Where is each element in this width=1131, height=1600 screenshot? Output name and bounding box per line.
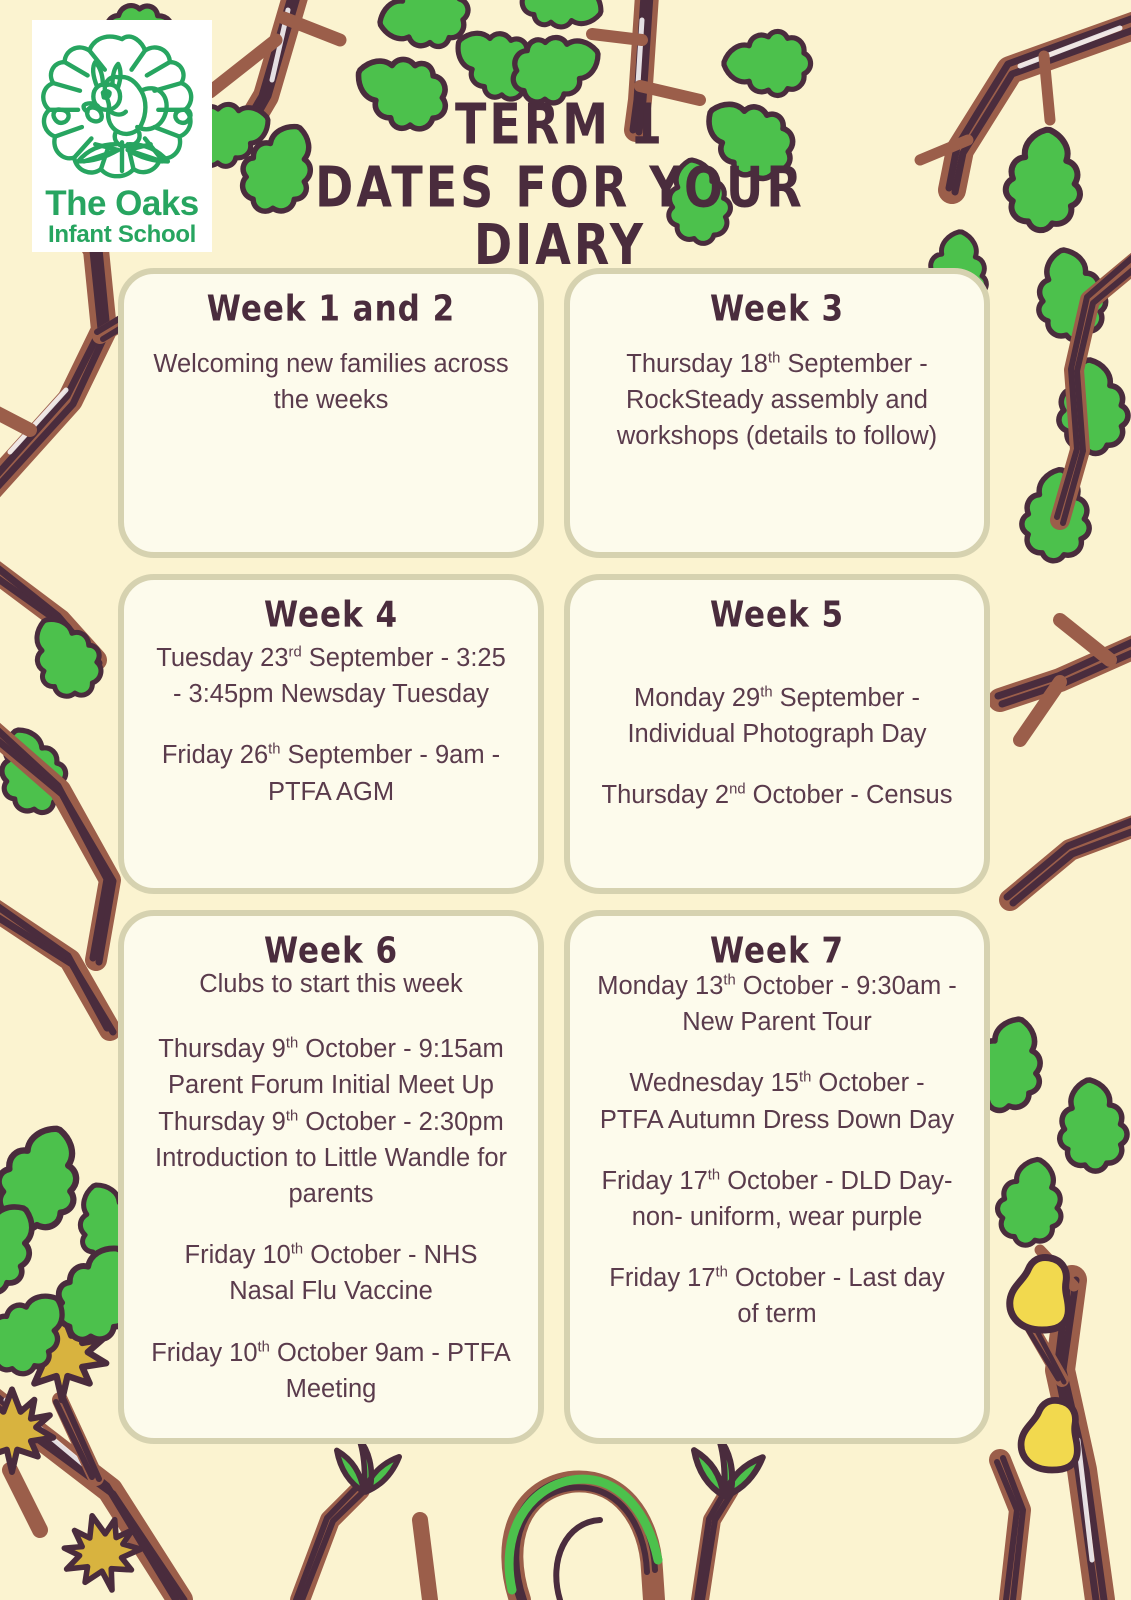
page-title: TERM 1 DATES FOR YOUR DIARY: [240, 96, 880, 253]
top-right-branch-icon: [920, 12, 1131, 192]
event-entry: Thursday 9th October - 9:15am Parent For…: [150, 1031, 512, 1103]
bottom-right-pear-branch-icon: [997, 1250, 1104, 1600]
pear-icon: [1010, 1258, 1069, 1331]
week-card-heading: Week 6: [150, 930, 512, 972]
event-entry: Tuesday 23rd September - 3:25 - 3:45pm N…: [150, 640, 512, 712]
week-card-subheading: Clubs to start this week: [150, 968, 512, 1001]
autumn-maple-leaf-icon: [0, 1389, 53, 1472]
event-entry: Wednesday 15th October - PTFA Autumn Dre…: [596, 1065, 958, 1137]
right-mid-branch-icon: [998, 620, 1131, 903]
week-card-body: Tuesday 23rd September - 3:25 - 3:45pm N…: [150, 640, 512, 810]
week-card-7: Week 7 Monday 13th October - 9:30am - Ne…: [564, 910, 990, 1444]
week-card-heading: Week 1 and 2: [150, 288, 512, 330]
week-card-1: Week 1 and 2 Welcoming new families acro…: [118, 268, 544, 558]
week-card-4: Week 4 Tuesday 23rd September - 3:25 - 3…: [118, 574, 544, 894]
week-card-body: Monday 29th September - Individual Photo…: [596, 680, 958, 814]
left-lower-branch-icon: [0, 714, 113, 1032]
poster: The Oaks Infant School TERM 1 DATES FOR …: [0, 0, 1131, 1600]
event-entry: Welcoming new families across the weeks: [150, 346, 512, 418]
week-card-heading: Week 5: [596, 594, 958, 636]
event-entry: Friday 10th October - NHS Nasal Flu Vacc…: [150, 1237, 512, 1309]
bottom-vine-icon: [296, 1478, 733, 1600]
title-line-1: TERM 1: [240, 96, 880, 153]
event-entry: Friday 17th October - DLD Day- non- unif…: [596, 1163, 958, 1235]
week-card-3: Week 3 Thursday 18th September - RockSte…: [564, 268, 990, 558]
week-card-6: Week 6 Clubs to start this week Thursday…: [118, 910, 544, 1444]
sprout-icon: [337, 1439, 399, 1492]
week-card-grid: Week 1 and 2 Welcoming new families acro…: [118, 268, 990, 1444]
title-line-2: DATES FOR YOUR DIARY: [240, 159, 880, 273]
squirrel-oak-wreath-icon: [36, 26, 208, 186]
event-entry: Thursday 2nd October - Census: [596, 777, 958, 813]
week-card-body: Monday 13th October - 9:30am - New Paren…: [596, 968, 958, 1333]
event-entry: Thursday 9th October - 2:30pm Introducti…: [150, 1104, 512, 1213]
event-entry: Friday 17th October - Last day of term: [596, 1260, 958, 1332]
event-entry: Monday 29th September - Individual Photo…: [596, 680, 958, 752]
week-card-heading: Week 7: [596, 930, 958, 972]
week-card-body: Thursday 18th September - RockSteady ass…: [596, 346, 958, 455]
week-card-heading: Week 3: [596, 288, 958, 330]
pear-icon: [1021, 1400, 1077, 1470]
week-card-body: Welcoming new families across the weeks: [150, 346, 512, 418]
right-branch-icon: [1057, 244, 1131, 523]
logo-line-1: The Oaks: [45, 186, 199, 221]
logo-line-2: Infant School: [48, 223, 196, 247]
week-card-body: Thursday 9th October - 9:15am Parent For…: [150, 1031, 512, 1407]
event-entry: Friday 10th October 9am - PTFA Meeting: [150, 1335, 512, 1407]
week-card-5: Week 5 Monday 29th September - Individua…: [564, 574, 990, 894]
autumn-maple-leaf-icon: [18, 1312, 106, 1400]
event-entry: Friday 26th September - 9am - PTFA AGM: [150, 737, 512, 809]
event-entry: Thursday 18th September - RockSteady ass…: [596, 346, 958, 455]
autumn-maple-leaf-icon: [55, 1506, 149, 1600]
sprout-icon: [694, 1438, 763, 1496]
event-entry: Monday 13th October - 9:30am - New Paren…: [596, 968, 958, 1040]
school-logo: The Oaks Infant School: [32, 20, 212, 252]
week-card-heading: Week 4: [150, 594, 512, 636]
